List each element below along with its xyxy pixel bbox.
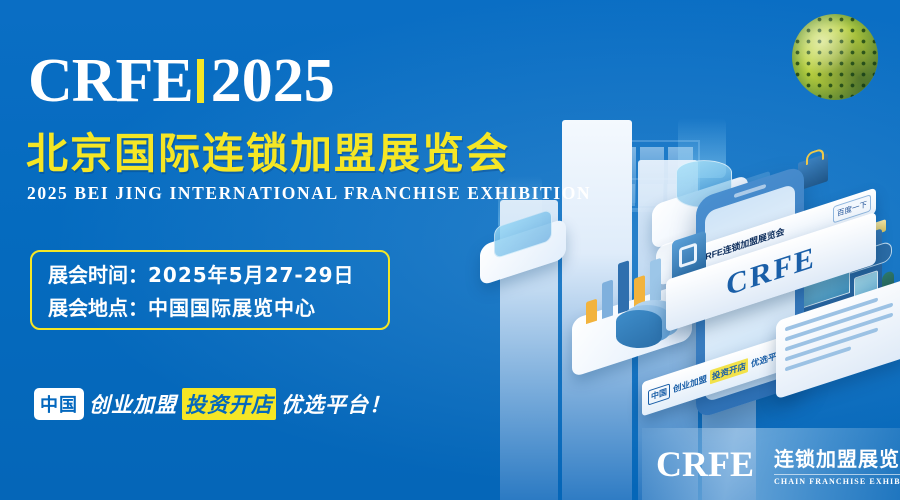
event-date-row: 展会时间： 2025年5月27-29日 xyxy=(48,259,372,288)
brand-headline: CRFE 2025 xyxy=(28,48,335,114)
mini-bar-5 xyxy=(650,258,661,304)
coin-stack-3 xyxy=(616,310,662,348)
event-venue-row: 展会地点： 中国国际展览中心 xyxy=(48,292,372,321)
mini-bar-2 xyxy=(602,279,613,319)
footer-logo-acronym: CRFE xyxy=(656,446,754,482)
brand-separator-bar xyxy=(197,59,204,103)
globe-shading xyxy=(792,14,878,100)
ribbon-text-highlight: 投资开店 xyxy=(710,358,748,384)
exhibition-banner: CRFE连锁加盟展览会 百度一下 CRFE 中国 创业加盟 投资开店 优选平台 … xyxy=(0,0,900,500)
tagline-badge-china: 中国 xyxy=(34,388,84,420)
footer-logo-text: 连锁加盟展览会 CHAIN FRANCHISE EXHIBITION xyxy=(774,443,900,486)
mini-bar-1 xyxy=(586,299,597,325)
footer-logo-chinese: 连锁加盟展览会 xyxy=(774,443,900,472)
tagline-part1: 创业加盟 xyxy=(89,389,177,419)
tagline-part2: 优选平台！ xyxy=(281,389,391,419)
event-date-label: 展会时间： xyxy=(48,259,148,288)
ribbon-badge-china: 中国 xyxy=(648,383,670,405)
page-title-english: 2025 BEI JING INTERNATIONAL FRANCHISE EX… xyxy=(27,183,591,204)
promo-tagline: 中国 创业加盟 投资开店 优选平台！ xyxy=(34,388,391,420)
brand-year: 2025 xyxy=(211,50,335,112)
ribbon-text-part1: 创业加盟 xyxy=(673,372,707,395)
globe-icon xyxy=(792,14,878,100)
tagline-highlight: 投资开店 xyxy=(182,388,276,420)
brand-acronym: CRFE xyxy=(28,50,193,112)
event-venue-label: 展会地点： xyxy=(48,292,148,321)
event-info-box: 展会时间： 2025年5月27-29日 展会地点： 中国国际展览中心 xyxy=(30,250,390,330)
page-title-chinese: 北京国际连锁加盟展览会 xyxy=(26,130,510,178)
mini-bar-3 xyxy=(618,260,629,314)
event-date-value: 2025年5月27-29日 xyxy=(148,259,355,288)
footer-logo-panel: CRFE 连锁加盟展览会 CHAIN FRANCHISE EXHIBITION xyxy=(642,428,900,500)
event-venue-value: 中国国际展览中心 xyxy=(148,292,316,321)
footer-logo-english: CHAIN FRANCHISE EXHIBITION xyxy=(774,474,900,486)
